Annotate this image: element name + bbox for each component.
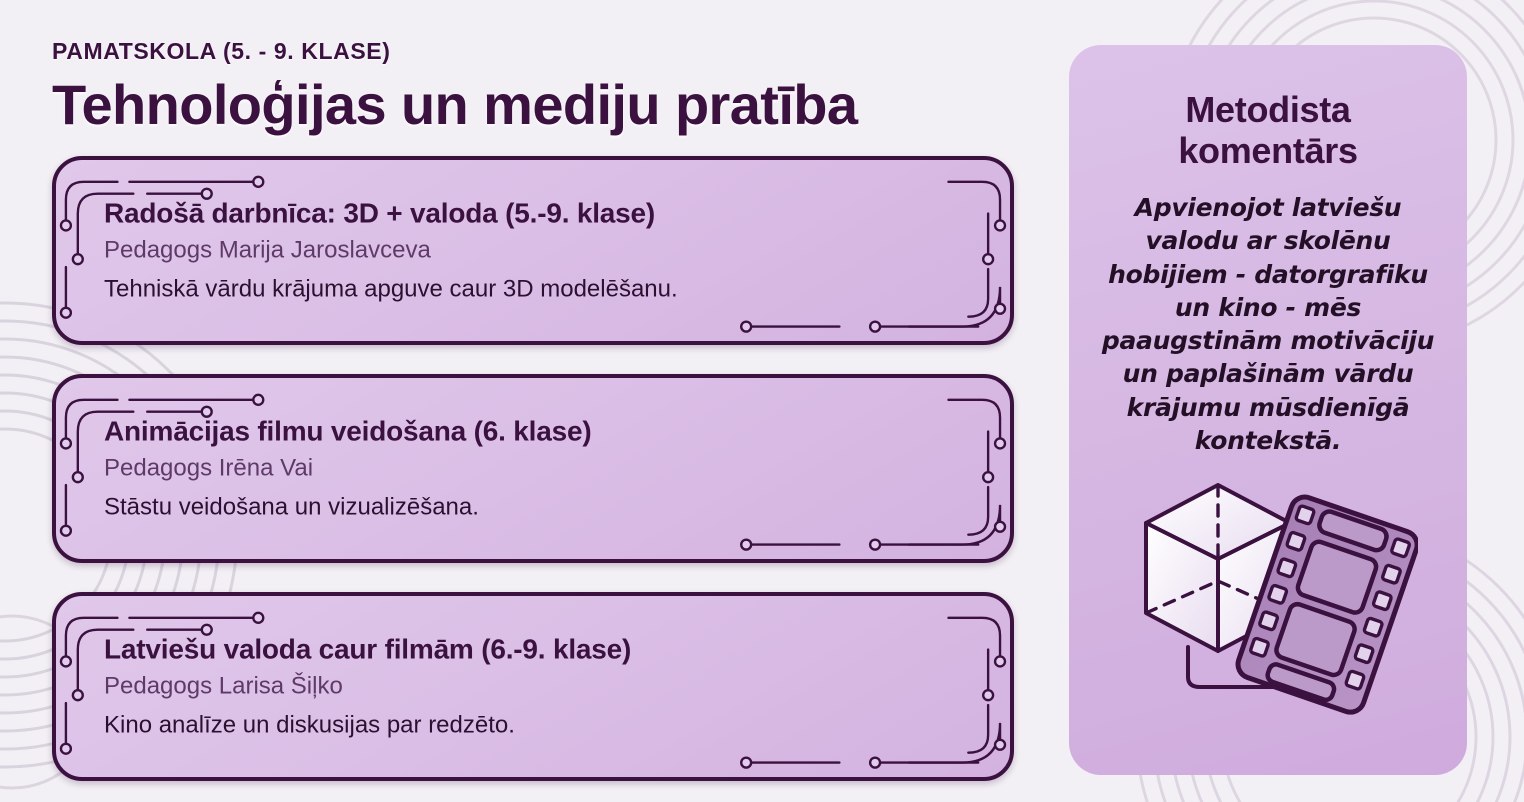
course-card-body: Radošā darbnīca: 3D + valoda (5.-9. klas… (104, 197, 950, 306)
cube-and-filmstrip-icon (1118, 471, 1418, 721)
course-description: Kino analīze un diskusijas par redzēto. (104, 711, 950, 741)
course-teacher: Pedagogs Larisa Šiļko (104, 672, 950, 702)
course-description: Tehniskā vārdu krājuma apguve caur 3D mo… (104, 275, 950, 305)
course-teacher: Pedagogs Marija Jaroslavceva (104, 236, 950, 266)
course-title: Radošā darbnīca: 3D + valoda (5.-9. klas… (104, 197, 950, 231)
course-card-body: Latviešu valoda caur filmām (6.-9. klase… (104, 633, 950, 742)
course-card[interactable]: Radošā darbnīca: 3D + valoda (5.-9. klas… (52, 156, 1014, 345)
section-eyebrow: PAMATSKOLA (5. - 9. KLASE) (52, 38, 1020, 65)
course-card-body: Animācijas filmu veidošana (6. klase) Pe… (104, 415, 950, 524)
panel-title-line-1: Metodista (1095, 89, 1441, 130)
course-description: Stāstu veidošana un vizualizēšana. (104, 493, 950, 523)
panel-title-line-2: komentārs (1095, 130, 1441, 171)
course-title: Latviešu valoda caur filmām (6.-9. klase… (104, 633, 950, 667)
course-title: Animācijas filmu veidošana (6. klase) (104, 415, 950, 449)
panel-title: Metodista komentārs (1095, 89, 1441, 171)
methodist-comment-text: Apvienojot latviešu valodu ar skolēnu ho… (1095, 191, 1441, 457)
methodist-comment-panel: Metodista komentārs Apvienojot latviešu … (1069, 45, 1467, 775)
course-card[interactable]: Animācijas filmu veidošana (6. klase) Pe… (52, 374, 1014, 563)
panel-illustration (1095, 471, 1441, 721)
course-card-list: Radošā darbnīca: 3D + valoda (5.-9. klas… (52, 156, 1020, 781)
main-content: PAMATSKOLA (5. - 9. KLASE) Tehnoloģijas … (52, 38, 1020, 781)
course-card[interactable]: Latviešu valoda caur filmām (6.-9. klase… (52, 592, 1014, 781)
page-title: Tehnoloģijas un mediju pratība (52, 75, 1020, 134)
course-teacher: Pedagogs Irēna Vai (104, 454, 950, 484)
